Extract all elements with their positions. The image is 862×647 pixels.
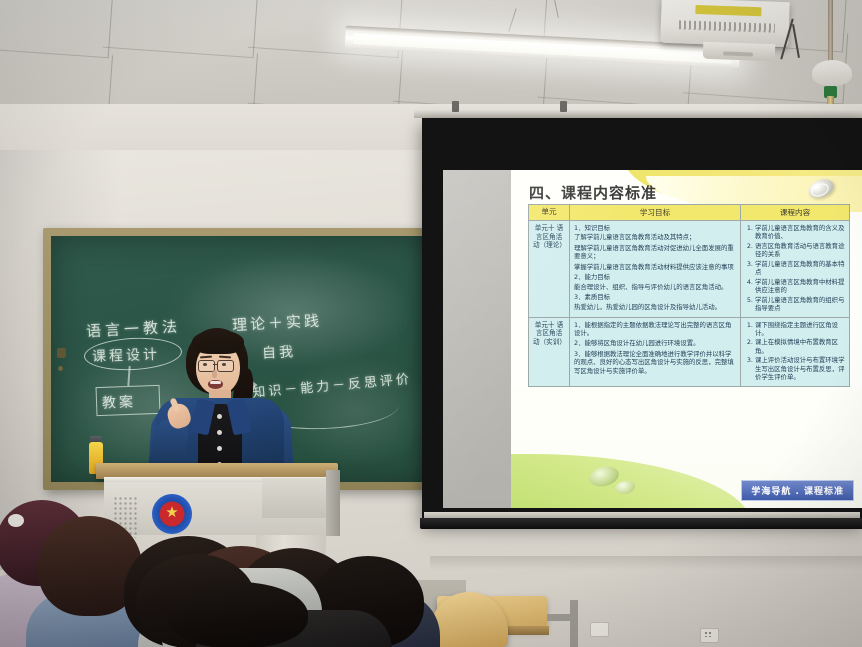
projection-screen: 四、课程内容标准 单元 学习目标 课程内容 单元十 语言区角活动（理论） 1．知… [443,170,862,508]
slide-title: 四、课程内容标准 [529,182,657,203]
pipe-cap [812,60,852,86]
screen-mount-left [452,101,459,112]
classroom-photo: 语言一教法 理论＋实践 课程设计 自我 教案 知识－能力－反思评价 四、课程内容… [0,0,862,647]
table-header-row: 单元 学习目标 课程内容 [529,205,850,221]
table-row: 单元十 语言区角活动（理论） 1．知识目标 了解学前儿童语言区角教育活动及其特点… [529,221,850,318]
screen-mount-mid [560,101,567,112]
content-item: 学前儿童语言区角教育的基本特点 [755,260,845,277]
goal-heading: 2．能力目标 [574,273,736,281]
content-item: 学前儿童语言区角教育的含义及教育价值、 [755,224,845,241]
teacher-glasses-bridge [213,364,218,365]
content-item: 课下围绕指定主题进行区角设计。 [755,321,845,338]
wall-outlet-holes [704,631,713,637]
cell-unit-1: 单元十 语言区角活动（理论） [529,221,570,318]
goal-text: 掌握学前儿童语言区角教育活动材料提供应该注意的事项 [574,263,736,271]
goal-text: 热爱幼儿，热爱幼儿园的区角设计及指导幼儿活动。 [574,303,736,311]
projector-label [695,5,761,16]
desk-leg [570,600,578,647]
content-item: 课上在模拟情境中布置教育区角。 [755,338,845,355]
cell-goals-1: 1．知识目标 了解学前儿童语言区角教育活动及其特点； 理解学前儿童语言区角教育活… [570,221,741,318]
cell-goals-2: 1．能根据指定的主题依据教法理论写出完整的语言区角设计。 2．能够将区角设计在幼… [570,317,741,386]
student-hair-tie [8,514,24,527]
blackboard-text-4: 自我 [261,341,296,363]
goal-heading: 1．知识目标 [574,224,736,232]
teacher-button-1 [217,414,222,419]
teacher-teeth [210,381,221,384]
presentation-slide: 四、课程内容标准 单元 学习目标 课程内容 单元十 语言区角活动（理论） 1．知… [511,170,862,508]
slide-footer-badge: 学海导航 . 课程标准 [741,480,854,501]
goal-text: 1．能根据指定的主题依据教法理论写出完整的语言区角设计。 [574,321,736,338]
screen-rail [414,110,862,118]
blackboard-text-3: 课程设计 [92,344,161,366]
blackboard-screw [58,366,63,371]
projector-ports [679,20,775,32]
screen-unlit-area [443,170,511,508]
lectern-box [262,478,332,518]
teacher-nose [212,370,217,378]
slide-table: 单元 学习目标 课程内容 单元十 语言区角活动（理论） 1．知识目标 了解学前儿… [528,204,850,387]
cell-content-1: 学前儿童语言区角教育的含义及教育价值、 语言区角教育活动与语言教育途径的关系 学… [741,221,850,318]
goal-heading: 3．素质目标 [574,293,736,301]
goal-text: 了解学前儿童语言区角教育活动及其特点； [574,233,736,241]
goal-text: 理解学前儿童语言区角教育活动对促进幼儿全面发展的重要意义； [574,244,736,261]
teacher-glasses-right [217,360,234,372]
content-item: 课上评价活动设计与布置环境学生写出区角设计与布置反思，评价学生评价单。 [755,356,845,381]
col-header-unit: 单元 [529,205,570,221]
goal-text: 3．能够根据教法理论全面准确地进行教学评价并以科学的观点、良好的心态写出区角设计… [574,350,736,375]
student-head [168,582,308,647]
cell-unit-2: 单元十 语言区角活动（实训） [529,317,570,386]
content-item: 学前儿童语言区角教育中材料提供应注意的 [755,278,845,295]
desk-crossbar [547,614,573,621]
wall-outlet-1[interactable] [590,622,609,637]
teacher-button-3 [217,446,222,451]
blackboard-clip [57,348,66,358]
goal-text: 能合理设计、组织、指导与评价幼儿的语言区角活动。 [574,283,736,291]
projector [660,0,789,47]
teacher-hair-front [192,330,244,354]
blackboard-text-5: 教案 [102,391,137,412]
table-row: 单元十 语言区角活动（实训） 1．能根据指定的主题依据教法理论写出完整的语言区角… [529,317,850,386]
wall-band [430,556,862,570]
col-header-content: 课程内容 [741,205,850,221]
emblem-star-icon: ★ [163,503,181,521]
col-header-goals: 学习目标 [570,205,741,221]
content-item: 学前儿童语言区角教育的组织与指导要点 [755,296,845,313]
cell-content-2: 课下围绕指定主题进行区角设计。 课上在模拟情境中布置教育区角。 课上评价活动设计… [741,317,850,386]
goal-text: 2．能够将区角设计在幼儿园进行环境设置。 [574,339,736,347]
screen-bottom-bar [420,518,862,529]
podium-side-panel [326,470,340,536]
teacher-button-2 [217,430,222,435]
content-item: 语言区角教育活动与语言教育途径的关系 [755,242,845,259]
